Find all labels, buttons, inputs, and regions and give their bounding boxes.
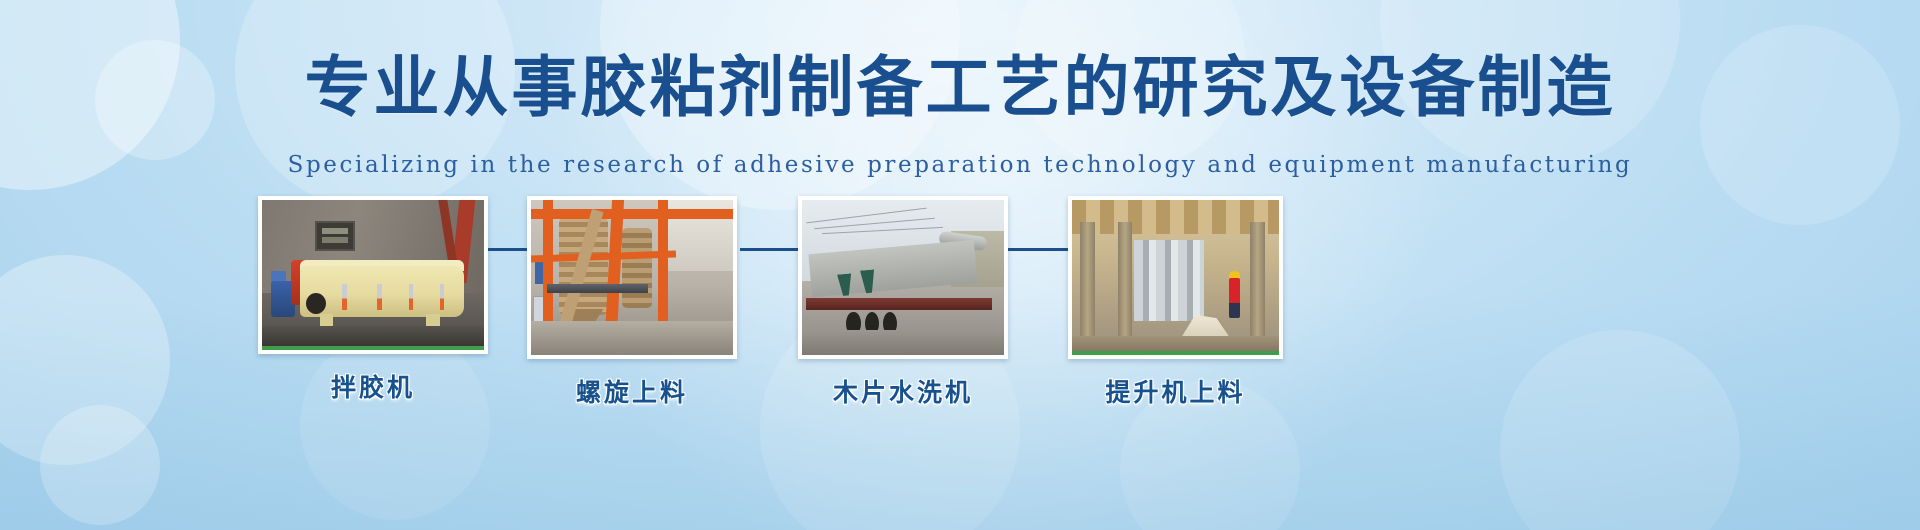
gallery-item-1[interactable]: 拌胶机 [258,196,488,404]
banner-headline: 专业从事胶粘剂制备工艺的研究及设备制造 [0,52,1920,124]
gallery-caption-1: 拌胶机 [258,368,488,404]
photo-glue-mixer [262,200,484,350]
equipment-gallery: 拌胶机 [0,196,1920,446]
thumbnail-frame[interactable] [527,196,737,359]
photo-screw-conveyor [531,200,733,355]
photo-elevator-feeding [1072,200,1279,355]
banner-subtitle: Specializing in the research of adhesive… [0,150,1920,180]
gallery-item-2[interactable]: 螺旋上料 [527,196,737,409]
thumbnail-frame[interactable] [1068,196,1283,359]
connector-line-3-4 [1008,248,1068,251]
connector-line-2-3 [740,248,802,251]
gallery-caption-2: 螺旋上料 [527,373,737,409]
thumbnail-frame[interactable] [798,196,1008,359]
photo-wood-chip-washer [802,200,1004,355]
gallery-item-3[interactable]: 木片水洗机 [798,196,1008,409]
gallery-caption-4: 提升机上料 [1068,373,1283,409]
promo-banner: 专业从事胶粘剂制备工艺的研究及设备制造 Specializing in the … [0,0,1920,530]
thumbnail-frame[interactable] [258,196,488,354]
gallery-item-4[interactable]: 提升机上料 [1068,196,1283,409]
gallery-caption-3: 木片水洗机 [798,373,1008,409]
